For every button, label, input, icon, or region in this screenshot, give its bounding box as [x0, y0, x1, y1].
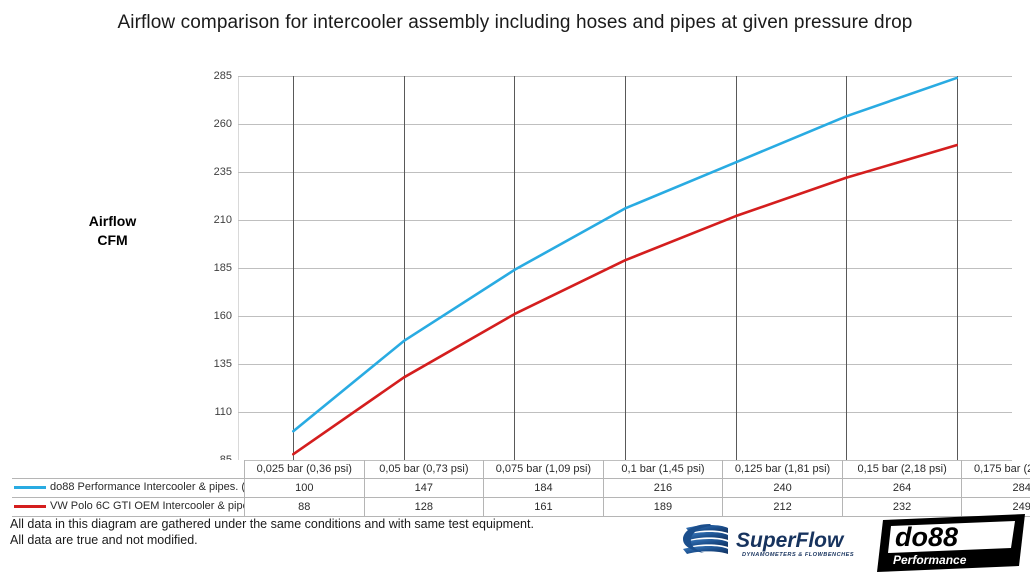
y-axis-tick-label: 235 — [186, 167, 232, 178]
superflow-tagline: DYNAMOMETERS & FLOWBENCHES — [742, 552, 854, 558]
legend-color-swatch — [14, 505, 46, 508]
legend-series-name: VW Polo 6C GTI OEM Intercooler & pipes — [50, 500, 245, 513]
y-axis-tick-label: 185 — [186, 263, 232, 274]
plot-area — [238, 76, 1012, 460]
do88-logo: do88 Performance — [875, 514, 1025, 572]
table-header-row: 0,025 bar (0,36 psi)0,05 bar (0,73 psi)0… — [12, 460, 1030, 479]
legend-color-swatch — [14, 486, 46, 489]
do88-wordmark: do88 — [895, 522, 958, 552]
x-axis-category-label: 0,175 bar (2,54 psi) — [962, 460, 1030, 479]
superflow-swoosh-icon — [683, 524, 728, 554]
y-axis-tick-label: 210 — [186, 215, 232, 226]
chart-page: Airflow comparison for intercooler assem… — [0, 0, 1030, 577]
y-axis-tick-label: 285 — [186, 71, 232, 82]
legend-series-name: do88 Performance Intercooler & pipes. (B… — [50, 481, 245, 494]
table-row: do88 Performance Intercooler & pipes. (B… — [12, 479, 1030, 498]
series-line-1 — [293, 78, 956, 431]
y-axis-tick-label: 160 — [186, 311, 232, 322]
data-cell: 161 — [484, 498, 604, 517]
x-axis-category-label: 0,025 bar (0,36 psi) — [245, 460, 365, 479]
x-axis-category-label: 0,05 bar (0,73 psi) — [364, 460, 484, 479]
data-cell: 128 — [364, 498, 484, 517]
page-title: Airflow comparison for intercooler assem… — [110, 10, 920, 36]
superflow-logo: SuperFlow DYNAMOMETERS & FLOWBENCHES — [680, 520, 855, 564]
footnote-line-1: All data in this diagram are gathered un… — [10, 516, 534, 532]
x-axis-category-label: 0,075 bar (1,09 psi) — [484, 460, 604, 479]
y-axis-tick-label: 110 — [186, 407, 232, 418]
data-cell: 240 — [723, 479, 843, 498]
legend-entry-1[interactable]: do88 Performance Intercooler & pipes. (B… — [12, 479, 245, 498]
logo-row: SuperFlow DYNAMOMETERS & FLOWBENCHES do8… — [675, 512, 1025, 574]
data-cell: 264 — [842, 479, 962, 498]
x-axis-category-label: 0,1 bar (1,45 psi) — [603, 460, 723, 479]
legend-entry-2[interactable]: VW Polo 6C GTI OEM Intercooler & pipes — [12, 498, 245, 517]
y-axis-title-line2: CFM — [55, 231, 170, 250]
x-axis-category-label: 0,15 bar (2,18 psi) — [842, 460, 962, 479]
do88-sub-wordmark: Performance — [893, 553, 967, 567]
legend-color-line-icon — [14, 486, 46, 489]
data-table: 0,025 bar (0,36 psi)0,05 bar (0,73 psi)0… — [12, 460, 1030, 517]
y-axis-title-line1: Airflow — [55, 212, 170, 231]
x-axis-category-label: 0,125 bar (1,81 psi) — [723, 460, 843, 479]
series-lines — [238, 76, 1012, 460]
data-cell: 184 — [484, 479, 604, 498]
y-axis-tick-label: 135 — [186, 359, 232, 370]
series-line-2 — [293, 145, 956, 454]
superflow-wordmark: SuperFlow — [736, 529, 845, 552]
y-axis-title: Airflow CFM — [55, 212, 170, 250]
footnote: All data in this diagram are gathered un… — [10, 516, 534, 548]
data-cell: 100 — [245, 479, 365, 498]
table-corner-cell — [12, 460, 245, 479]
data-cell: 88 — [245, 498, 365, 517]
data-cell: 216 — [603, 479, 723, 498]
data-cell: 147 — [364, 479, 484, 498]
y-axis-tick-label: 260 — [186, 119, 232, 130]
data-cell: 284 — [962, 479, 1030, 498]
y-axis-tick-labels: 28526023521018516013511085 — [186, 76, 232, 460]
footnote-line-2: All data are true and not modified. — [10, 532, 534, 548]
legend-color-line-icon — [14, 505, 46, 508]
